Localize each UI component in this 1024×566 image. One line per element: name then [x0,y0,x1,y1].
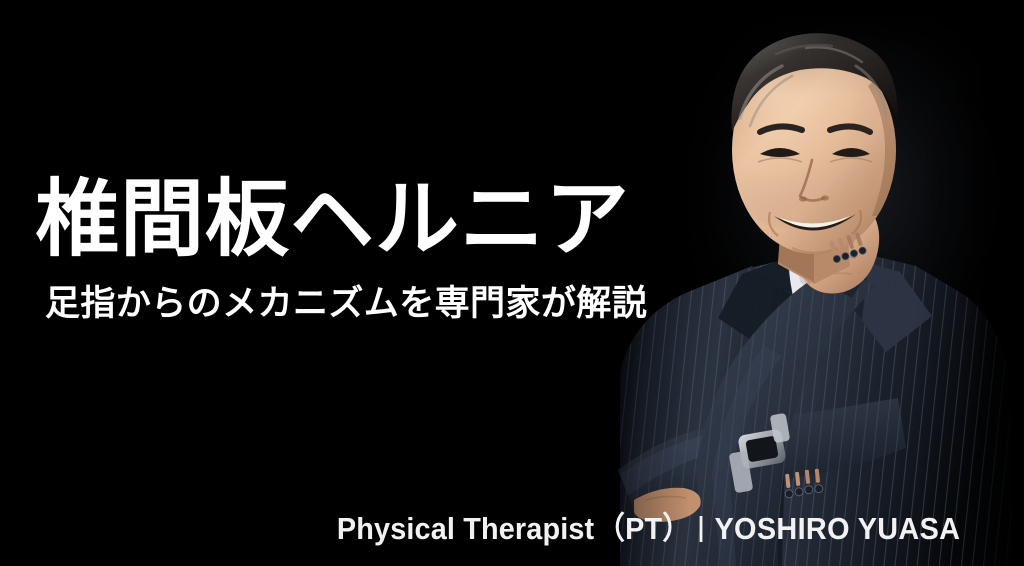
page-subtitle: 足指からのメカニズムを専門家が解説 [45,283,635,325]
headline-block: 椎間板ヘルニア 足指からのメカニズムを専門家が解説 [35,176,635,325]
portrait-photo [600,0,1024,566]
credit-credential: （PT） [596,503,691,548]
credit-role: Physical Therapist [337,511,594,547]
head [706,30,898,254]
thumbnail-canvas: 椎間板ヘルニア 足指からのメカニズムを専門家が解説 Physical Thera… [0,0,1024,566]
credit-separator [699,516,702,542]
presenter-name: YOSHIRO YUASA [714,511,960,547]
page-title: 椎間板ヘルニア [35,176,635,263]
presenter-credit: Physical Therapist （PT） YOSHIRO YUASA [337,503,960,548]
